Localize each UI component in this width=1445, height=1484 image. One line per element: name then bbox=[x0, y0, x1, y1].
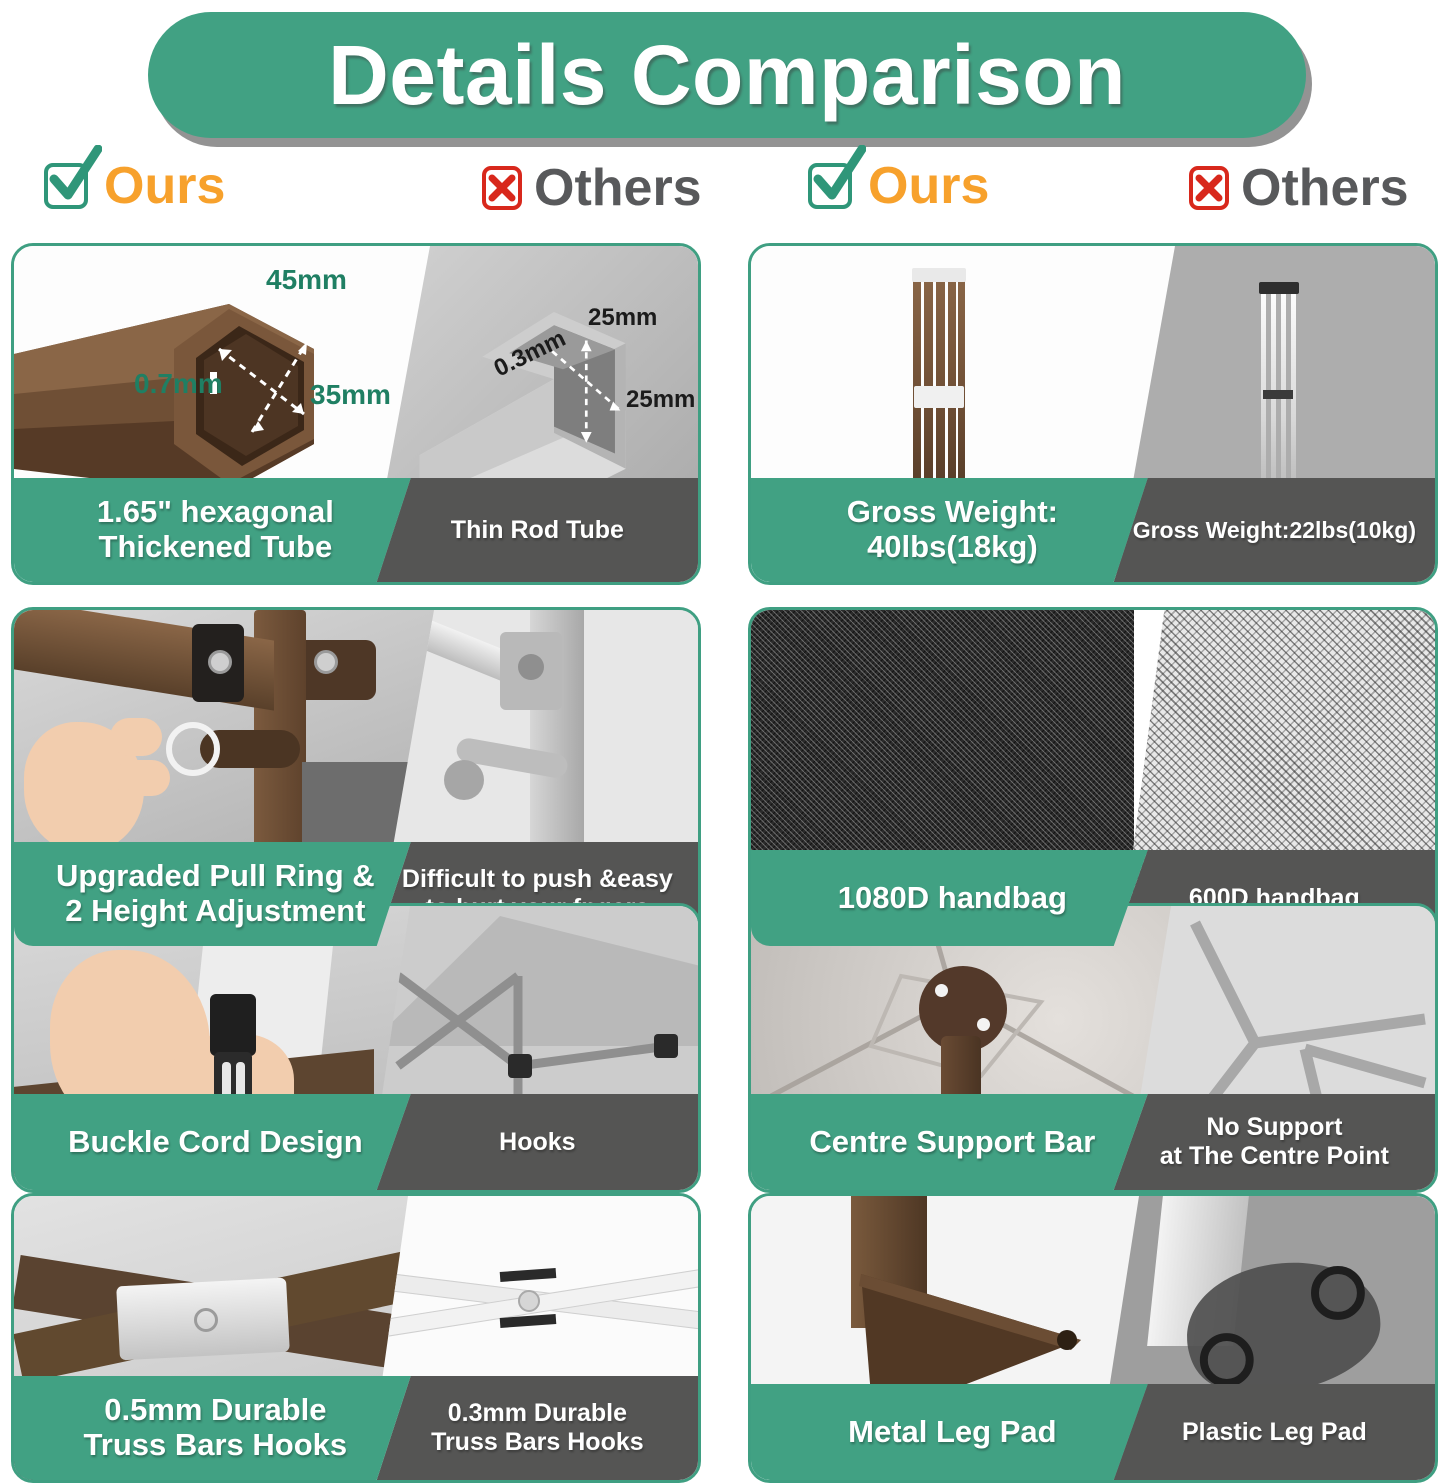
caption-others-leg-pad: Plastic Leg Pad bbox=[1114, 1384, 1435, 1480]
caption-others-gross-weight: Gross Weight:22lbs(10kg) bbox=[1114, 478, 1435, 582]
header-ours-right: Ours bbox=[808, 160, 989, 212]
card-truss-bars-caption: 0.5mm DurableTruss Bars Hooks 0.3mm Dura… bbox=[14, 1376, 698, 1480]
column-headers: Ours Others Ours Oth bbox=[0, 160, 1445, 238]
annotation-0.7mm: 0.7mm bbox=[134, 368, 223, 400]
bolt-icon bbox=[208, 650, 232, 674]
caption-ours-pull-ring: Upgraded Pull Ring &2 Height Adjustment bbox=[14, 842, 411, 946]
hook-bolt-icon bbox=[518, 1290, 540, 1312]
pull-ring-icon bbox=[166, 722, 220, 776]
title-pill: Details Comparison bbox=[148, 12, 1306, 138]
annotation-45mm: 45mm bbox=[266, 264, 347, 296]
cross-icon bbox=[482, 166, 522, 210]
caption-ours-buckle: Buckle Cord Design bbox=[14, 1094, 411, 1190]
caption-others-buckle: Hooks bbox=[377, 1094, 698, 1190]
header-others-left: Others bbox=[482, 162, 702, 214]
header-label-ours: Ours bbox=[104, 160, 225, 212]
buckle-slot bbox=[236, 1062, 245, 1098]
bolt-icon bbox=[314, 650, 338, 674]
cross-icon bbox=[1189, 166, 1229, 210]
annotation-25mm-side: 25mm bbox=[626, 386, 695, 414]
cross-mark-icon bbox=[1194, 173, 1224, 203]
check-icon bbox=[44, 163, 88, 209]
finger-illustration bbox=[110, 718, 162, 756]
card-handbag: 1080D handbag 600D handbag bbox=[748, 607, 1438, 949]
plate-bolt-icon bbox=[935, 984, 948, 997]
page-title: Details Comparison bbox=[328, 33, 1126, 117]
caption-ours-leg-pad: Metal Leg Pad bbox=[751, 1384, 1148, 1480]
card-pull-ring: Upgraded Pull Ring &2 Height Adjustment … bbox=[11, 607, 701, 949]
hook-bolt-icon bbox=[194, 1308, 218, 1332]
caption-ours-handbag: 1080D handbag bbox=[751, 850, 1148, 946]
title-banner: Details Comparison bbox=[148, 12, 1306, 138]
cross-mark-icon bbox=[487, 173, 517, 203]
card-gross-weight: Gross Weight:40lbs(18kg) Gross Weight:22… bbox=[748, 243, 1438, 585]
header-label-others: Others bbox=[534, 162, 702, 214]
caption-others-truss-bars: 0.3mm DurableTruss Bars Hooks bbox=[377, 1376, 698, 1480]
pivot-icon bbox=[444, 760, 484, 800]
caption-ours-gross-weight: Gross Weight:40lbs(18kg) bbox=[751, 478, 1148, 582]
hook-clip-icon bbox=[500, 1268, 557, 1282]
card-gross-weight-caption: Gross Weight:40lbs(18kg) Gross Weight:22… bbox=[751, 478, 1435, 582]
header-label-ours: Ours bbox=[868, 160, 989, 212]
card-buckle-caption: Buckle Cord Design Hooks bbox=[14, 1094, 698, 1190]
header-others-right: Others bbox=[1189, 162, 1409, 214]
annotation-35mm: 35mm bbox=[310, 379, 391, 411]
plate-bolt-icon bbox=[977, 1018, 990, 1031]
caption-ours-tube: 1.65" hexagonalThickened Tube bbox=[14, 478, 411, 582]
card-leg-pad: Metal Leg Pad Plastic Leg Pad bbox=[748, 1193, 1438, 1483]
caption-ours-centre-support: Centre Support Bar bbox=[751, 1094, 1148, 1190]
card-leg-pad-caption: Metal Leg Pad Plastic Leg Pad bbox=[751, 1384, 1435, 1480]
caption-ours-truss-bars: 0.5mm DurableTruss Bars Hooks bbox=[14, 1376, 411, 1480]
check-icon bbox=[808, 163, 852, 209]
caption-others-centre-support: No Supportat The Centre Point bbox=[1114, 1094, 1435, 1190]
finger-illustration bbox=[114, 760, 170, 796]
caption-others-tube: Thin Rod Tube bbox=[377, 478, 698, 582]
details-comparison-infographic: Details Comparison Ours Others bbox=[0, 0, 1445, 1484]
check-mark-icon bbox=[46, 145, 102, 205]
header-label-others: Others bbox=[1241, 162, 1409, 214]
card-tube: 45mm 35mm 0.7mm 25 bbox=[11, 243, 701, 585]
buckle-slot bbox=[222, 1062, 231, 1098]
screw-icon bbox=[518, 654, 544, 680]
check-mark-icon bbox=[810, 145, 866, 205]
card-truss-bars: 0.5mm DurableTruss Bars Hooks 0.3mm Dura… bbox=[11, 1193, 701, 1483]
annotation-25mm-top: 25mm bbox=[588, 304, 657, 332]
card-centre-support: Centre Support Bar No Supportat The Cent… bbox=[748, 903, 1438, 1193]
card-buckle: Buckle Cord Design Hooks bbox=[11, 903, 701, 1193]
buckle-icon bbox=[210, 994, 256, 1056]
header-ours-left: Ours bbox=[44, 160, 225, 212]
card-tube-caption: 1.65" hexagonalThickened Tube Thin Rod T… bbox=[14, 478, 698, 582]
card-centre-support-caption: Centre Support Bar No Supportat The Cent… bbox=[751, 1094, 1435, 1190]
